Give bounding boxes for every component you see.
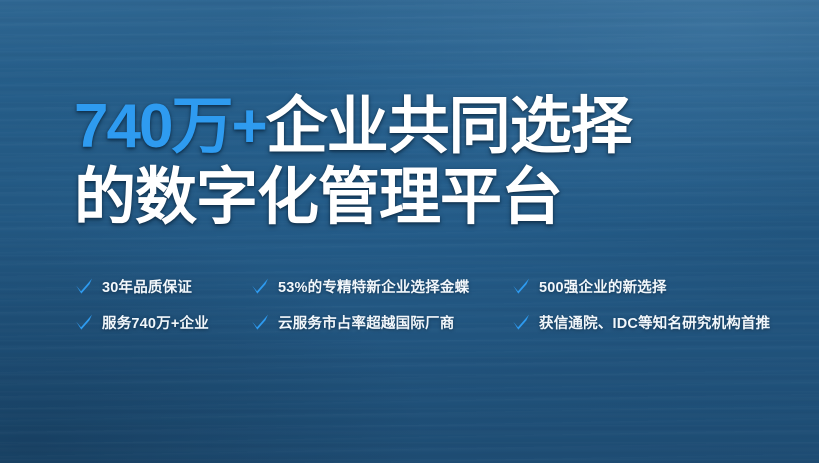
feature-item: 获信通院、IDC等知名研究机构首推	[511, 312, 770, 333]
feature-item: 500强企业的新选择	[511, 276, 667, 297]
headline-line-1: 740万+企业共同选择	[74, 96, 632, 158]
feature-label: 服务740万+企业	[102, 312, 209, 333]
feature-list: 30年品质保证 53%的专精特新企业选择金蝶 500强企业的新选择	[74, 268, 770, 340]
feature-row: 服务740万+企业 云服务市占率超越国际厂商 获信通院、IDC等知名研究机构首推	[74, 304, 770, 340]
feature-label: 53%的专精特新企业选择金蝶	[278, 276, 469, 297]
promo-banner: 740万+企业共同选择 的数字化管理平台 30年品质保证 53%的专精	[0, 0, 819, 463]
headline: 740万+企业共同选择 的数字化管理平台	[74, 96, 632, 229]
feature-label: 30年品质保证	[102, 276, 192, 297]
feature-label: 获信通院、IDC等知名研究机构首推	[539, 312, 770, 333]
check-icon	[250, 276, 270, 296]
feature-item: 53%的专精特新企业选择金蝶	[250, 276, 485, 297]
check-icon	[250, 312, 270, 332]
check-icon	[74, 312, 94, 332]
headline-line-1-rest: 企业共同选择	[266, 92, 632, 161]
feature-row: 30年品质保证 53%的专精特新企业选择金蝶 500强企业的新选择	[74, 268, 770, 304]
check-icon	[511, 312, 531, 332]
headline-accent-metric: 740万+	[74, 92, 266, 161]
headline-line-2: 的数字化管理平台	[74, 167, 632, 229]
check-icon	[511, 276, 531, 296]
feature-label: 云服务市占率超越国际厂商	[278, 312, 454, 333]
feature-item: 云服务市占率超越国际厂商	[250, 312, 485, 333]
feature-label: 500强企业的新选择	[539, 276, 667, 297]
check-icon	[74, 276, 94, 296]
feature-item: 服务740万+企业	[74, 312, 224, 333]
feature-item: 30年品质保证	[74, 276, 224, 297]
